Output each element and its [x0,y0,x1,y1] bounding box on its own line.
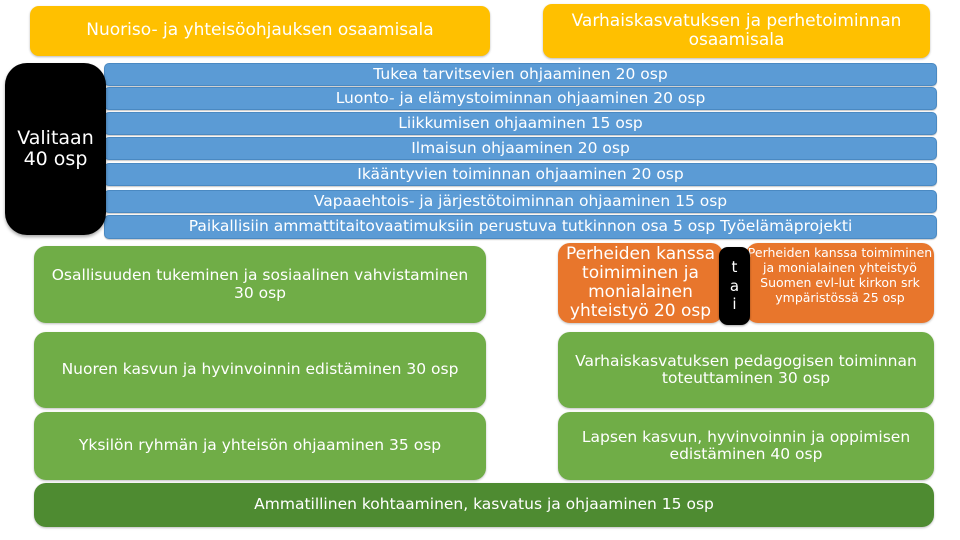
elective-unit-bar: Tukea tarvitsevien ohjaaminen 20 osp [104,63,937,86]
elective-unit-bar: Ikääntyvien toiminnan ohjaaminen 20 osp [104,163,937,186]
elective-unit-label: Ikääntyvien toiminnan ohjaaminen 20 osp [357,166,683,183]
alternative-unit-box-a: Perheiden kanssa toimiminen ja monialain… [558,243,723,323]
core-unit-box: Varhaiskasvatuksen pedagogisen toiminnan… [558,332,934,408]
alternative-divider-tai: t a i [719,247,750,325]
core-unit-box: Lapsen kasvun, hyvinvoinnin ja oppimisen… [558,412,934,480]
selection-requirement-line2: 40 osp [24,148,88,170]
qualification-structure-diagram: Nuoriso- ja yhteisöohjauksen osaamisala … [0,0,960,540]
core-unit-label: Varhaiskasvatuksen pedagogisen toiminnan… [570,353,922,388]
alternative-unit-box-b: Perheiden kanssa toimiminen ja monialain… [746,243,934,323]
common-unit-label: Ammatillinen kohtaaminen, kasvatus ja oh… [254,496,714,513]
alternative-unit-label: Perheiden kanssa toimiminen ja monialain… [746,245,934,305]
tai-letter: a [730,277,739,296]
elective-unit-label: Liikkumisen ohjaaminen 15 osp [398,115,643,132]
core-unit-label: Yksilön ryhmän ja yhteisön ohjaaminen 35… [79,437,441,454]
elective-unit-bar: Paikallisiin ammattitaitovaatimuksiin pe… [104,215,937,239]
elective-unit-label: Luonto- ja elämystoiminnan ohjaaminen 20… [336,90,706,107]
core-unit-label: Nuoren kasvun ja hyvinvoinnin edistämine… [62,361,459,378]
elective-unit-label: Tukea tarvitsevien ohjaaminen 20 osp [373,66,667,83]
tai-letter: t [732,258,738,277]
header-early-childhood-label: Varhaiskasvatuksen ja perhetoiminnan osa… [553,12,920,50]
core-unit-box: Nuoren kasvun ja hyvinvoinnin edistämine… [34,332,486,408]
core-unit-label: Lapsen kasvun, hyvinvoinnin ja oppimisen… [570,429,922,464]
elective-unit-label: Vapaaehtois- ja järjestötoiminnan ohjaam… [314,193,727,210]
selection-requirement-block: Valitaan 40 osp [5,63,106,235]
header-youth-label: Nuoriso- ja yhteisöohjauksen osaamisala [86,21,433,40]
core-unit-label: Osallisuuden tukeminen ja sosiaalinen va… [46,267,474,302]
elective-unit-bar: Luonto- ja elämystoiminnan ohjaaminen 20… [104,87,937,110]
selection-requirement-text: Valitaan 40 osp [17,128,94,171]
elective-unit-label: Ilmaisun ohjaaminen 20 osp [411,140,630,157]
core-unit-box: Osallisuuden tukeminen ja sosiaalinen va… [34,246,486,323]
elective-unit-bar: Vapaaehtois- ja järjestötoiminnan ohjaam… [104,190,937,213]
alternative-unit-label: Perheiden kanssa toimiminen ja monialain… [558,245,723,321]
elective-unit-bar: Ilmaisun ohjaaminen 20 osp [104,137,937,160]
tai-letter: i [732,295,736,314]
core-unit-box: Yksilön ryhmän ja yhteisön ohjaaminen 35… [34,412,486,480]
header-early-childhood-competence-area: Varhaiskasvatuksen ja perhetoiminnan osa… [543,4,930,58]
common-unit-box: Ammatillinen kohtaaminen, kasvatus ja oh… [34,483,934,527]
elective-unit-bar: Liikkumisen ohjaaminen 15 osp [104,112,937,135]
header-youth-competence-area: Nuoriso- ja yhteisöohjauksen osaamisala [30,6,490,56]
selection-requirement-line1: Valitaan [17,127,94,149]
elective-unit-label: Paikallisiin ammattitaitovaatimuksiin pe… [189,218,853,235]
